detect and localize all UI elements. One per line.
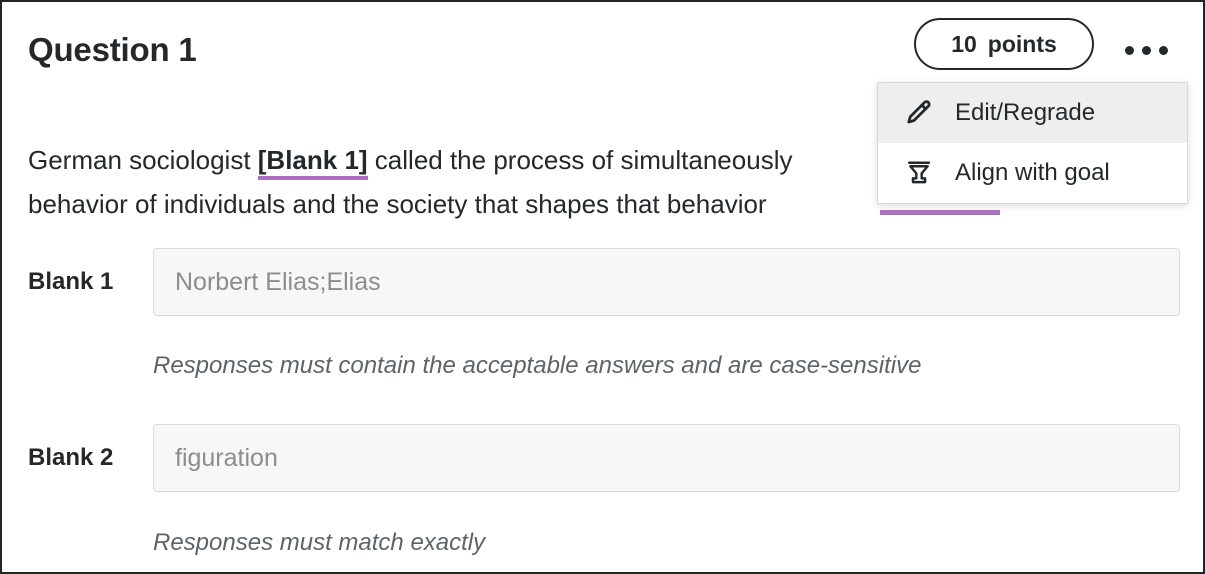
menu-accent-underline — [880, 210, 1000, 215]
page-title: Question 1 — [28, 29, 197, 71]
ellipsis-horizontal-icon[interactable] — [1120, 26, 1172, 74]
question-text-line2: behavior of individuals and the society … — [28, 189, 767, 219]
overflow-menu: Edit/Regrade Align with goal — [877, 82, 1188, 204]
kebab-dot — [1159, 46, 1168, 55]
menu-item-label: Align with goal — [955, 161, 1110, 185]
question-text-before: German sociologist — [28, 145, 258, 175]
blank-1-hint: Responses must contain the acceptable an… — [153, 352, 921, 380]
kebab-dot — [1142, 46, 1151, 55]
blank-2-label: Blank 2 — [28, 424, 140, 492]
blank-2-hint: Responses must match exactly — [153, 529, 485, 557]
question-card: Question 1 10 points German sociologist … — [0, 0, 1205, 574]
menu-item-edit-regrade[interactable]: Edit/Regrade — [878, 83, 1187, 143]
menu-item-align-with-goal[interactable]: Align with goal — [878, 143, 1187, 203]
blank-row-2: Blank 2 figuration — [28, 424, 1180, 492]
kebab-dot — [1125, 46, 1134, 55]
points-label: points — [988, 33, 1057, 56]
points-badge[interactable]: 10 points — [914, 18, 1094, 70]
points-value: 10 — [951, 33, 977, 56]
blank-1-reference: [Blank 1] — [258, 145, 368, 180]
blank-2-input[interactable]: figuration — [153, 424, 1180, 492]
pencil-icon — [904, 98, 934, 128]
blank-1-input[interactable]: Norbert Elias;Elias — [153, 248, 1180, 316]
question-text-after: called the process of simultaneously — [368, 145, 793, 175]
blank-row-1: Blank 1 Norbert Elias;Elias — [28, 248, 1180, 316]
menu-item-label: Edit/Regrade — [955, 101, 1095, 125]
blank-1-label: Blank 1 — [28, 248, 140, 316]
goal-trophy-icon — [904, 159, 934, 187]
